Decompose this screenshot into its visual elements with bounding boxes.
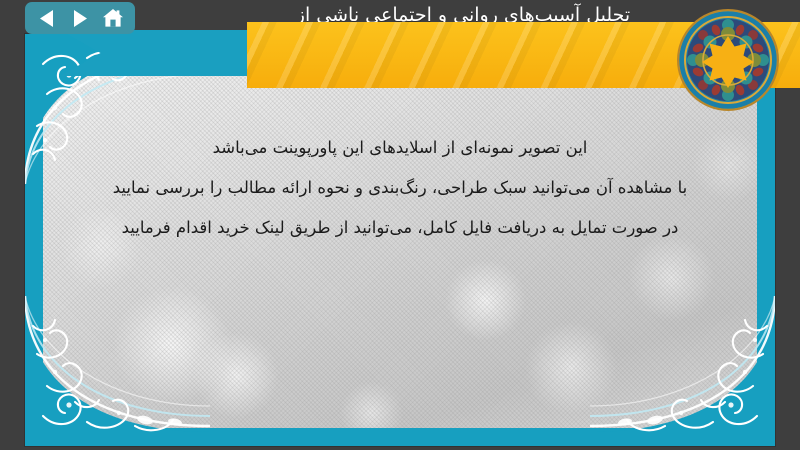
body-line-2: با مشاهده آن می‌توانید سبک طراحی، رنگ‌بن… bbox=[50, 168, 750, 208]
body-line-1: این تصویر نمونه‌ای از اسلایدهای این پاور… bbox=[50, 128, 750, 168]
triangle-left-icon bbox=[39, 9, 56, 28]
forward-button[interactable] bbox=[67, 6, 93, 30]
slide-viewer: تحلیل آسیب‌های روانی و اجتماعی ناشی از ا… bbox=[0, 0, 800, 450]
triangle-right-icon bbox=[71, 9, 88, 28]
home-button[interactable] bbox=[100, 6, 126, 30]
navigation-toolbar bbox=[25, 2, 135, 34]
slide-body-text: این تصویر نمونه‌ای از اسلایدهای این پاور… bbox=[50, 128, 750, 248]
back-button[interactable] bbox=[34, 6, 60, 30]
home-icon bbox=[102, 8, 124, 28]
body-line-3: در صورت تمایل به دریافت فایل کامل، می‌تو… bbox=[50, 208, 750, 248]
